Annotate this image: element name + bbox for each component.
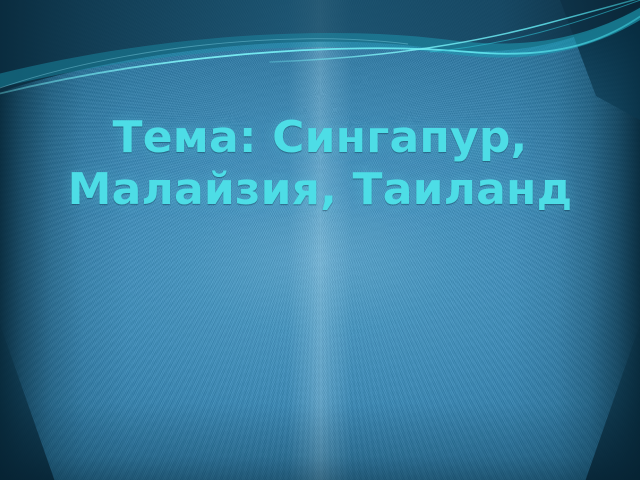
slide-title: Тема: Сингапур, Малайзия, Таиланд (36, 112, 604, 216)
bright-cyan-arc-upper (270, 0, 640, 62)
title-placeholder: Тема: Сингапур, Малайзия, Таиланд (0, 112, 640, 216)
bottom-vignette (0, 0, 640, 480)
secondary-teal-line (430, 0, 640, 52)
side-vignette (0, 0, 640, 480)
top-right-navy-wedge (560, 0, 640, 120)
presentation-slide: Тема: Сингапур, Малайзия, Таиланд (0, 0, 640, 480)
radiating-fan-pattern (0, 0, 640, 480)
teal-wave-ribbon (0, 2, 640, 90)
bottom-left-dark-wedge (0, 290, 160, 480)
center-light-column (0, 0, 640, 480)
bottom-right-dark-wedge (480, 290, 640, 480)
dark-wave-band (0, 0, 640, 92)
bright-cyan-arc-lower (0, 8, 640, 96)
weave-texture-overlay (0, 0, 640, 480)
top-left-highlight-line (0, 39, 408, 88)
slide-background-gradient (0, 0, 640, 480)
